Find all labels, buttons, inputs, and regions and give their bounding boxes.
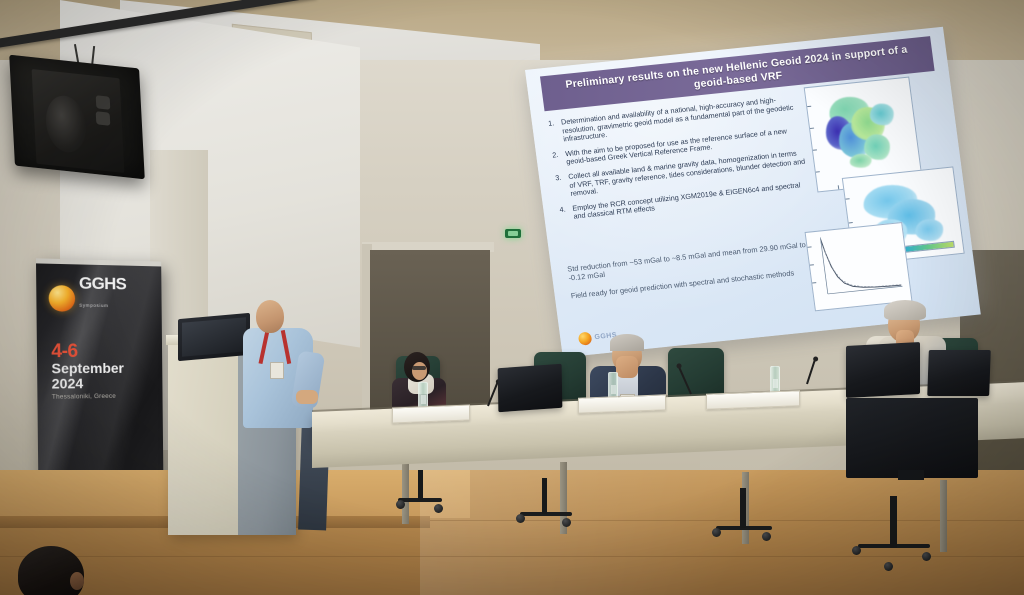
figure-covariance-plot — [805, 222, 913, 311]
monitor — [846, 398, 978, 478]
nameplate — [392, 405, 470, 424]
nameplate — [578, 394, 666, 413]
podium-laptop-screen — [182, 317, 246, 357]
table-leg — [940, 480, 947, 552]
glasses-icon — [412, 366, 426, 370]
banner-month: September — [51, 361, 124, 376]
badge — [270, 362, 284, 379]
banner-dates-block: 4-6 September 2024 Thessaloniki, Greece — [51, 343, 124, 401]
banner-logo: GGHS Symposium — [48, 275, 126, 312]
banner-event-subtitle: Symposium — [79, 303, 108, 308]
covariance-curve — [818, 230, 903, 298]
conference-room-photo: Preliminary results on the new Hellenic … — [0, 0, 1024, 595]
panelist-right-hair — [884, 300, 926, 320]
audience-member-ear — [70, 572, 84, 590]
monitor-stand — [898, 470, 924, 480]
banner-event-name: GGHS — [79, 274, 126, 294]
presenter-head — [256, 300, 284, 333]
panelist-center-hands — [616, 356, 638, 378]
exit-sign-icon — [505, 229, 521, 238]
presenter-hands — [296, 390, 318, 404]
banner-city: Thessaloniki, Greece — [52, 393, 124, 401]
laptop[interactable] — [846, 342, 920, 398]
panelist-center-hair — [610, 334, 644, 351]
panelist-left-face — [412, 362, 427, 380]
speaker-tweeter-icon — [96, 111, 111, 126]
banner-year: 2024 — [52, 376, 125, 392]
banner-dates: 4-6 — [51, 343, 124, 361]
globe-icon — [49, 285, 76, 312]
laptop[interactable] — [927, 350, 991, 396]
laptop[interactable] — [498, 364, 563, 412]
floor-reflection — [420, 470, 1024, 595]
speaker-tweeter-icon — [96, 95, 111, 110]
globe-icon — [578, 332, 593, 346]
